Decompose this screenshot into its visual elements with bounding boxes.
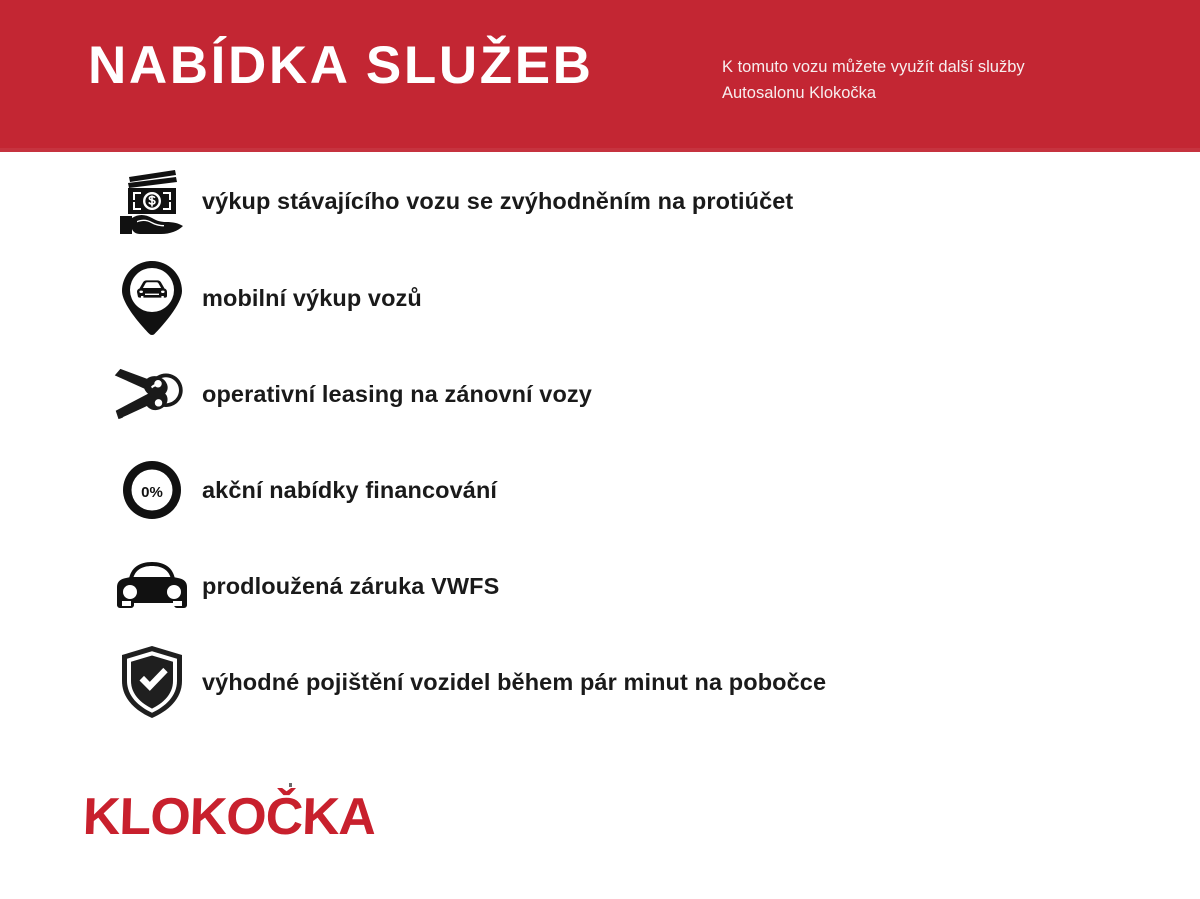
shield-check-icon: [112, 642, 192, 722]
car-front-icon: [112, 546, 192, 626]
car-keys-icon: [112, 354, 192, 434]
zero-percent-circle-icon: 0%: [112, 450, 192, 530]
header-subtitle-line-1: K tomuto vozu můžete využít další služby: [722, 55, 1142, 81]
klokocka-logo[interactable]: KLOKOČKA: [84, 788, 484, 844]
list-item: mobilní výkup vozů: [0, 250, 1200, 346]
list-item-label: mobilní výkup vozů: [202, 285, 422, 312]
list-item: výhodné pojištění vozidel během pár minu…: [0, 634, 1200, 730]
logo-speck: [289, 783, 292, 787]
header-banner: NABÍDKA SLUŽEB K tomuto vozu můžete využ…: [0, 0, 1200, 152]
money-in-hand-icon: [112, 161, 192, 241]
logo-wordmark: KLOKOČKA: [84, 788, 377, 846]
header-subtitle-line-2: Autosalonu Klokočka: [722, 81, 1142, 107]
list-item: 0% akční nabídky financování: [0, 442, 1200, 538]
page-title: NABÍDKA SLUŽEB: [88, 39, 594, 92]
list-item-label: akční nabídky financování: [202, 477, 497, 504]
list-item-label: výkup stávajícího vozu se zvýhodněním na…: [202, 188, 793, 215]
list-item-label: prodloužená záruka VWFS: [202, 573, 499, 600]
zero-percent-label: 0%: [141, 484, 163, 501]
header-subtitle: K tomuto vozu můžete využít další služby…: [722, 55, 1142, 106]
list-item: výkup stávajícího vozu se zvýhodněním na…: [0, 152, 1200, 250]
services-list: výkup stávajícího vozu se zvýhodněním na…: [0, 152, 1200, 730]
list-item-label: výhodné pojištění vozidel během pár minu…: [202, 669, 826, 696]
list-item: operativní leasing na zánovní vozy: [0, 346, 1200, 442]
map-pin-car-icon: [112, 258, 192, 338]
list-item: prodloužená záruka VWFS: [0, 538, 1200, 634]
list-item-label: operativní leasing na zánovní vozy: [202, 381, 592, 408]
